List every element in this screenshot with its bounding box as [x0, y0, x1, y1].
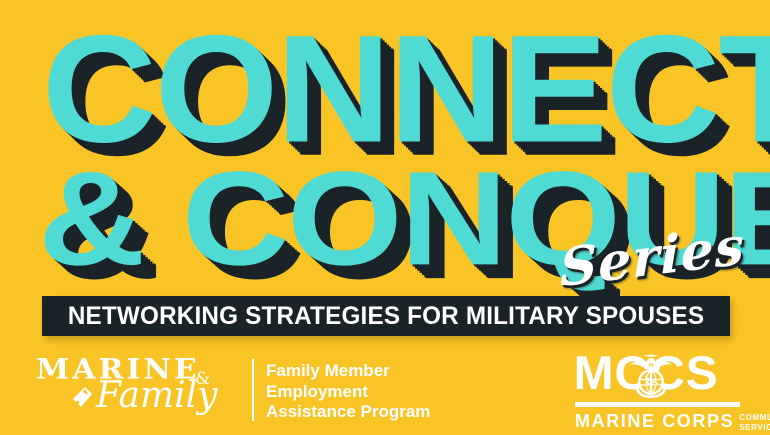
heart-hand-icon	[72, 386, 94, 410]
mccs-services-line: SERVICES	[739, 423, 770, 433]
mccs-community-line: COMMUNITY	[739, 413, 770, 423]
mccs-marine-corps-text: MARINE CORPS	[575, 412, 734, 430]
marine-family-wordmark: MARINE & Family	[36, 353, 236, 421]
logo-divider	[252, 359, 254, 421]
subtitle-bar: NETWORKING STRATEGIES FOR MILITARY SPOUS…	[42, 296, 730, 336]
marine-family-logo: MARINE & Family Family Member Employment…	[36, 353, 430, 423]
mccs-subtext: MARINE CORPS COMMUNITY SERVICES	[575, 412, 740, 433]
program-name: Family Member Employment Assistance Prog…	[266, 361, 430, 423]
series-script-word: Series	[559, 215, 745, 299]
mccs-logo: MCCS	[575, 351, 740, 433]
eagle-globe-anchor-icon	[623, 349, 679, 401]
mccs-community-services-text: COMMUNITY SERVICES	[739, 413, 770, 433]
program-line-1: Family Member	[266, 361, 430, 382]
program-line-2: Employment	[266, 382, 430, 403]
mccs-rule	[575, 402, 740, 407]
mccs-wordmark: MCCS	[575, 351, 740, 401]
subtitle-text: NETWORKING STRATEGIES FOR MILITARY SPOUS…	[68, 302, 704, 331]
headline-line-connect: CONNECT	[42, 12, 770, 165]
program-line-3: Assistance Program	[266, 402, 430, 423]
poster-canvas: CONNECT & CONQUER Series NETWORKING STRA…	[0, 0, 770, 435]
family-word: Family	[96, 378, 218, 414]
logo-row: MARINE & Family Family Member Employment…	[0, 345, 770, 435]
